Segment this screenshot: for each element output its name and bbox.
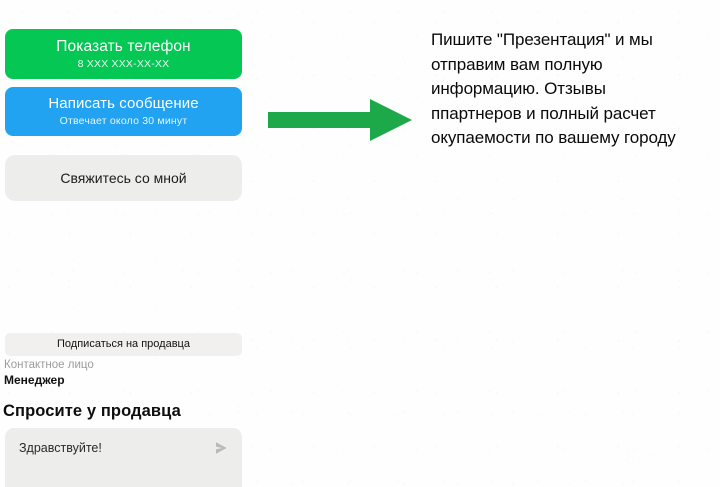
show-phone-button-sublabel: 8 XXX XXX-XX-XX xyxy=(78,58,170,71)
subscribe-to-seller-label: Подписаться на продавца xyxy=(57,338,190,351)
write-message-button-sublabel: Отвечает около 30 минут xyxy=(60,115,188,128)
show-phone-button[interactable]: Показать телефон 8 XXX XXX-XX-XX xyxy=(5,29,242,79)
annotation-text: Пишите "Презентация" и мы отправим вам п… xyxy=(431,28,699,151)
ask-seller-input[interactable] xyxy=(19,440,199,456)
contact-person-name: Менеджер xyxy=(4,373,65,388)
avito-dots-icon xyxy=(620,448,636,464)
contact-me-button[interactable]: Свяжитесь со мной xyxy=(5,155,242,201)
write-message-button-label: Написать сообщение xyxy=(48,95,198,113)
right-arrow-icon xyxy=(266,98,414,142)
show-phone-button-label: Показать телефон xyxy=(56,38,190,56)
seller-contact-panel: Показать телефон 8 XXX XXX-XX-XX Написат… xyxy=(0,0,250,487)
ask-seller-field[interactable] xyxy=(5,428,242,487)
avito-watermark: Avito xyxy=(620,447,679,465)
subscribe-to-seller-button[interactable]: Подписаться на продавца xyxy=(5,333,242,356)
contact-me-button-label: Свяжитесь со мной xyxy=(60,170,186,187)
contact-person-label: Контактное лицо xyxy=(4,358,94,372)
ask-seller-heading: Спросите у продавца xyxy=(3,401,181,421)
screenshot-canvas: Показать телефон 8 XXX XXX-XX-XX Написат… xyxy=(0,0,720,487)
avito-watermark-label: Avito xyxy=(639,447,679,465)
write-message-button[interactable]: Написать сообщение Отвечает около 30 мин… xyxy=(5,87,242,136)
send-arrow-icon[interactable] xyxy=(212,439,230,457)
